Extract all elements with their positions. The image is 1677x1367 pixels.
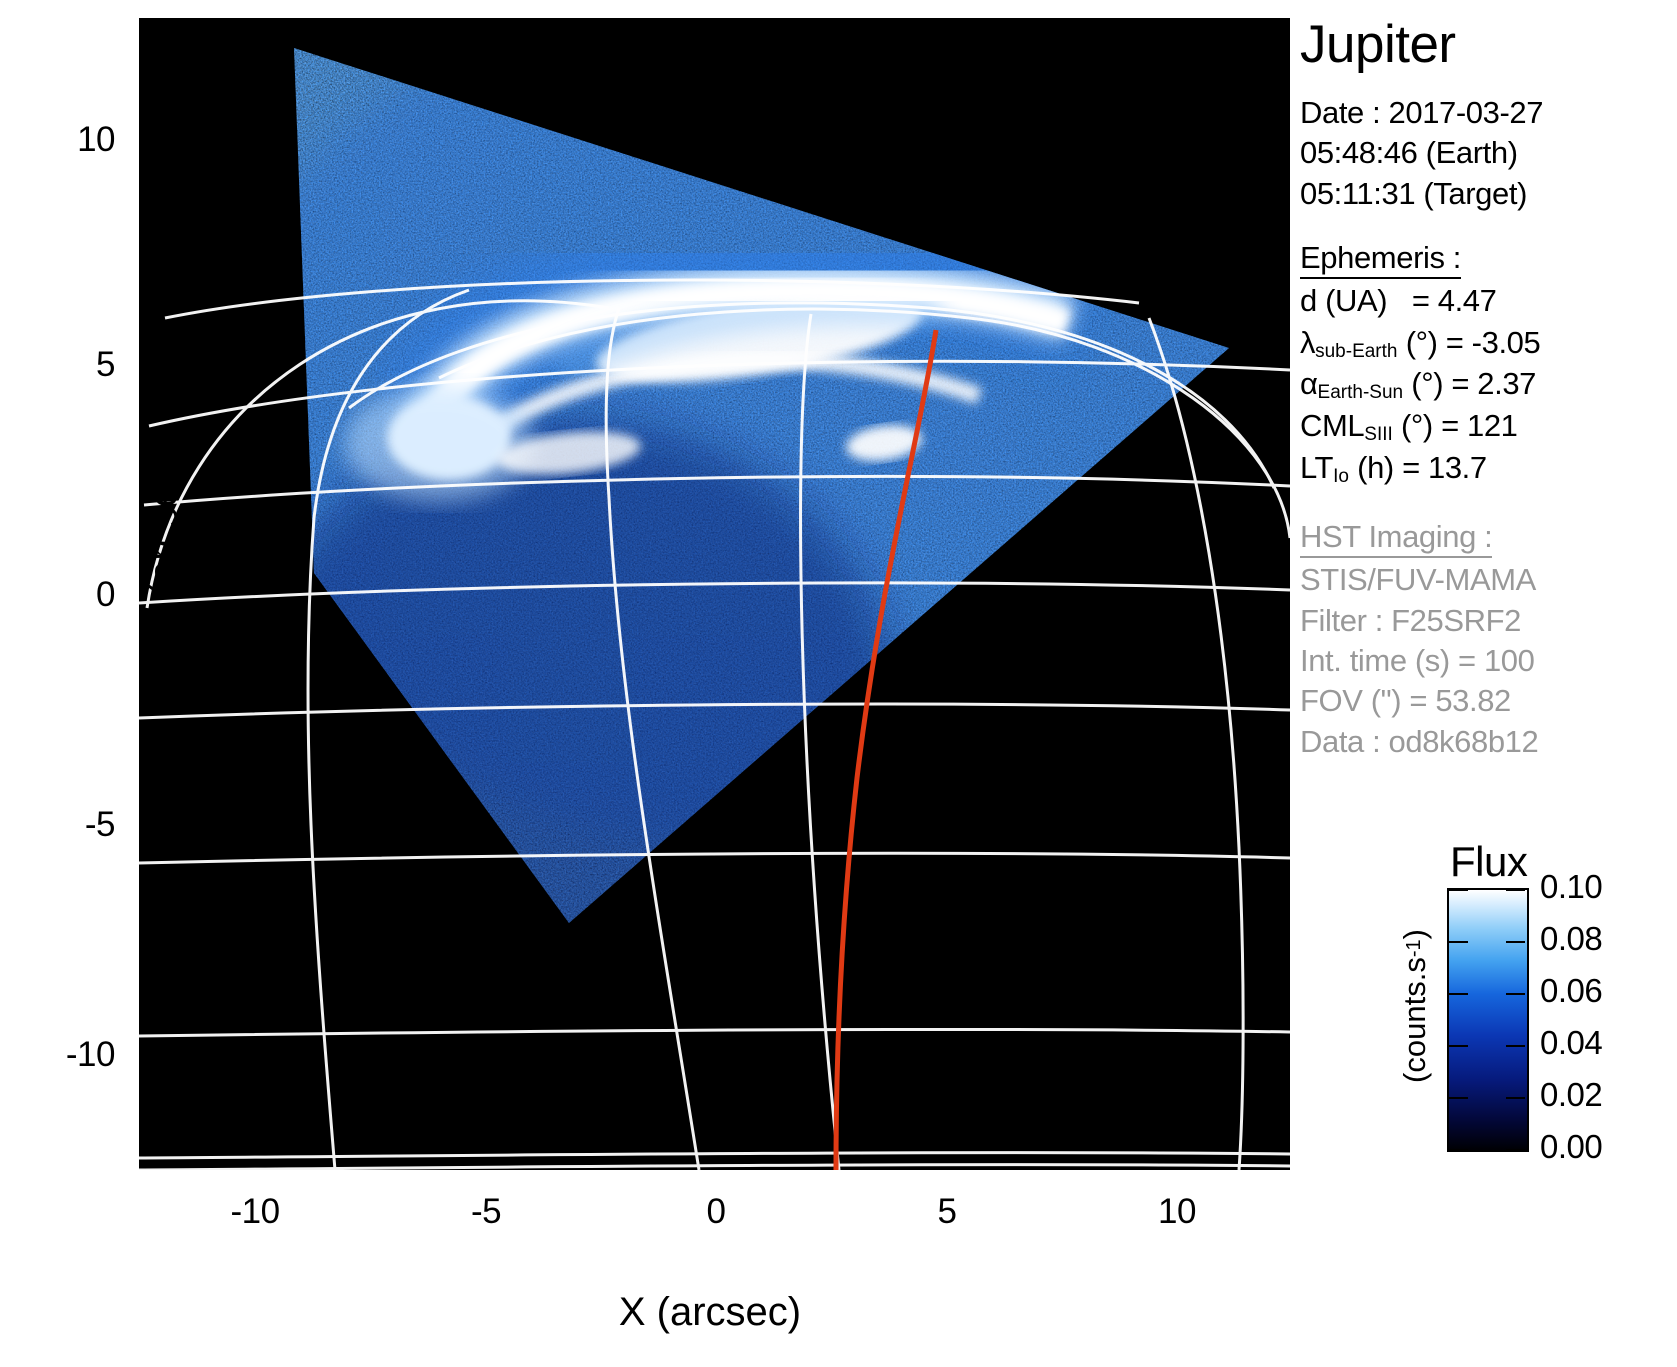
hst-fov: FOV (") = 53.82: [1300, 681, 1677, 721]
ephemeris-symbol-alpha: α: [1300, 364, 1318, 404]
x-tick-10: 10: [1107, 1192, 1247, 1232]
colorbar-unit-exponent: -1: [1403, 939, 1425, 957]
colorbar-tick-000: 0.00: [1540, 1128, 1602, 1166]
ephemeris-info-panel: Jupiter Date : 2017-03-27 05:48:46 (Eart…: [1300, 0, 1677, 800]
plot-svg: [139, 18, 1290, 1170]
colorbar-unit-close: ): [1397, 929, 1432, 939]
ephemeris-unit-lambda: (°): [1406, 325, 1438, 360]
colorbar-tick-002: 0.02: [1540, 1076, 1602, 1114]
aurora-image-plot: [139, 18, 1290, 1170]
colorbar-title: Flux: [1450, 838, 1527, 886]
ephemeris-symbol-cml: CML: [1300, 406, 1364, 446]
y-tick-5: 5: [5, 345, 115, 385]
hst-filter: Filter : F25SRF2: [1300, 601, 1677, 641]
hst-data-id: Data : od8k68b12: [1300, 722, 1677, 762]
ephemeris-block: Ephemeris : d (UA) = 4.47 λsub-Earth (°)…: [1300, 240, 1677, 489]
ephemeris-value-d: = 4.47: [1412, 283, 1497, 318]
ephemeris-subscript-alpha: Earth-Sun: [1318, 382, 1404, 403]
ephemeris-value-alpha: = 2.37: [1451, 366, 1536, 401]
hst-instrument: STIS/FUV-MAMA: [1300, 560, 1677, 600]
date-line: Date : 2017-03-27: [1300, 93, 1677, 133]
ephemeris-row-cml: CMLSIII (°) = 121: [1300, 406, 1677, 448]
x-tick--10: -10: [185, 1192, 325, 1232]
ephemeris-symbol-lambda: λ: [1300, 323, 1315, 363]
colorbar-tick-004: 0.04: [1540, 1024, 1602, 1062]
ephemeris-heading: Ephemeris :: [1300, 240, 1461, 279]
x-tick-5: 5: [877, 1192, 1017, 1232]
ephemeris-subscript-cml: SIII: [1364, 424, 1393, 445]
hst-imaging-block: HST Imaging : STIS/FUV-MAMA Filter : F25…: [1300, 519, 1677, 761]
time-target-line: 05:11:31 (Target): [1300, 174, 1677, 214]
ephemeris-value-cml: = 121: [1441, 408, 1517, 443]
ephemeris-row-lambda: λsub-Earth (°) = -3.05: [1300, 323, 1677, 365]
y-tick-0: 0: [5, 575, 115, 615]
y-axis-label: Y (arcsec): [142, 373, 187, 713]
ephemeris-unit-d: (UA): [1325, 283, 1387, 318]
time-earth-line: 05:48:46 (Earth): [1300, 133, 1677, 173]
colorbar-tick-010: 0.10: [1540, 868, 1602, 906]
ephemeris-unit-cml: (°): [1401, 408, 1433, 443]
hst-imaging-heading: HST Imaging :: [1300, 519, 1492, 558]
colorbar-unit-label: (counts.s-1): [1397, 881, 1433, 1131]
ephemeris-unit-alpha: (°): [1411, 366, 1443, 401]
ephemeris-subscript-lt: Io: [1333, 466, 1349, 487]
colorbar-tick-006: 0.06: [1540, 972, 1602, 1010]
ephemeris-value-lambda: = -3.05: [1446, 325, 1541, 360]
ephemeris-symbol-lt: LT: [1300, 448, 1333, 488]
colorbar-tick-008: 0.08: [1540, 920, 1602, 958]
observation-date-block: Date : 2017-03-27 05:48:46 (Earth) 05:11…: [1300, 93, 1677, 214]
y-tick-10: 10: [5, 120, 115, 160]
colorbar-gradient: [1447, 888, 1529, 1152]
ephemeris-row-lt: LTIo (h) = 13.7: [1300, 448, 1677, 490]
y-tick--10: -10: [5, 1035, 115, 1075]
ephemeris-value-lt: = 13.7: [1402, 450, 1487, 485]
target-title: Jupiter: [1300, 18, 1677, 71]
ephemeris-row-d: d (UA) = 4.47: [1300, 281, 1677, 323]
x-axis-label: X (arcsec): [430, 1290, 990, 1335]
ephemeris-subscript-lambda: sub-Earth: [1315, 341, 1397, 362]
x-tick-0: 0: [646, 1192, 786, 1232]
x-tick--5: -5: [416, 1192, 556, 1232]
hst-integration-time: Int. time (s) = 100: [1300, 641, 1677, 681]
ephemeris-symbol-d: d: [1300, 281, 1317, 321]
flux-colorbar: Flux (counts.s-1) 0.10 0.08 0.06 0.04 0.…: [1300, 838, 1677, 1168]
ephemeris-row-alpha: αEarth-Sun (°) = 2.37: [1300, 364, 1677, 406]
colorbar-unit-text: (counts.s: [1397, 957, 1432, 1083]
y-tick--5: -5: [5, 805, 115, 845]
ephemeris-unit-lt: (h): [1357, 450, 1394, 485]
